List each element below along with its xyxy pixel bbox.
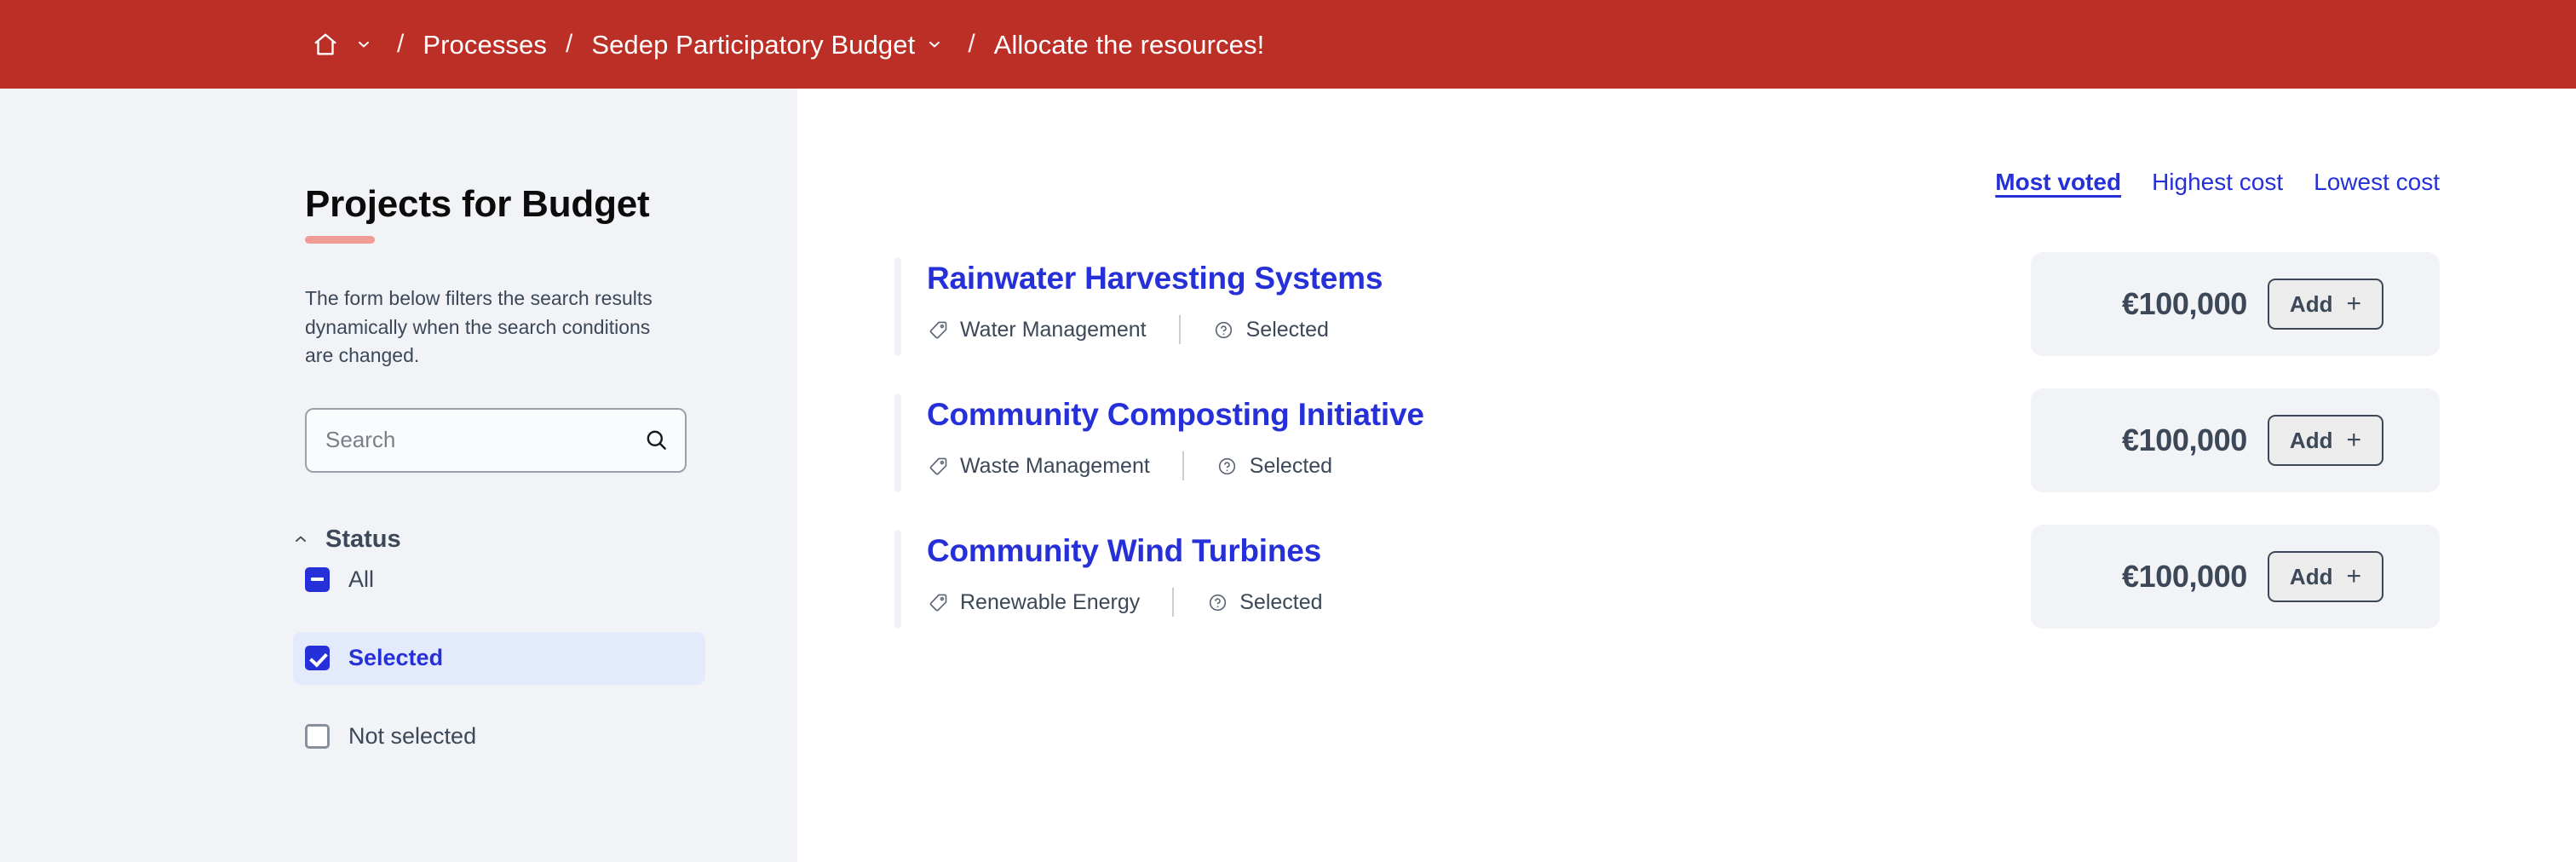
help-circle-icon	[1213, 319, 1235, 341]
project-status: Selected	[1213, 319, 1329, 341]
tag-icon	[927, 319, 949, 341]
project-status-label: Selected	[1250, 456, 1332, 477]
page-title: Projects for Budget	[305, 184, 797, 225]
breadcrumb-separator-2: /	[547, 32, 591, 57]
chevron-up-icon	[290, 528, 312, 550]
project-row: Community Composting Initiative Waste Ma…	[894, 385, 2440, 521]
project-price: €100,000	[2122, 561, 2247, 592]
filter-option-all[interactable]: All	[293, 554, 705, 606]
add-project-button[interactable]: Add +	[2268, 279, 2383, 330]
project-category-label: Waste Management	[960, 456, 1150, 477]
filter-description: The form below filters the search result…	[305, 284, 681, 369]
checkbox-unchecked-icon[interactable]	[305, 724, 330, 749]
meta-divider	[1172, 588, 1174, 617]
search-field	[305, 408, 687, 473]
project-meta: Water Management Selected	[927, 315, 1383, 344]
project-row: Rainwater Harvesting Systems Water Manag…	[894, 249, 2440, 385]
project-row: Community Wind Turbines Renewable Energy	[894, 521, 2440, 658]
project-category-label: Water Management	[960, 319, 1147, 341]
project-price-panel: €100,000 Add +	[2031, 388, 2440, 492]
plus-icon: +	[2346, 291, 2361, 317]
project-accent-bar	[894, 530, 901, 629]
add-button-label: Add	[2290, 429, 2333, 451]
sort-highest-cost[interactable]: Highest cost	[2152, 170, 2283, 194]
breadcrumb-item-processes[interactable]: Processes	[423, 32, 547, 58]
project-price: €100,000	[2122, 289, 2247, 319]
project-category-label: Renewable Energy	[960, 592, 1140, 613]
status-filter-title: Status	[325, 526, 401, 554]
meta-divider	[1179, 315, 1181, 344]
checkbox-checked-icon[interactable]	[305, 646, 330, 670]
filter-option-label: Not selected	[348, 725, 476, 748]
process-chevron-down-icon[interactable]	[920, 27, 949, 61]
sort-options: Most voted Highest cost Lowest cost	[1995, 170, 2440, 194]
project-status: Selected	[1216, 455, 1332, 477]
project-status: Selected	[1206, 591, 1322, 613]
checkbox-indeterminate-icon[interactable]	[305, 567, 330, 592]
search-icon[interactable]	[637, 422, 675, 459]
project-accent-bar	[894, 257, 901, 356]
filter-option-selected[interactable]: Selected	[293, 632, 705, 685]
add-button-label: Add	[2290, 566, 2333, 588]
project-price: €100,000	[2122, 425, 2247, 456]
search-input[interactable]	[305, 408, 687, 473]
projects-main: Most voted Highest cost Lowest cost Rain…	[797, 89, 2576, 862]
project-info: Community Wind Turbines Renewable Energy	[894, 521, 1323, 617]
help-circle-icon	[1216, 455, 1239, 477]
filters-sidebar: Projects for Budget The form below filte…	[0, 89, 797, 862]
filter-option-label: Selected	[348, 646, 443, 669]
filter-option-label: All	[348, 568, 374, 591]
project-status-label: Selected	[1239, 592, 1322, 613]
project-category: Water Management	[927, 319, 1147, 341]
project-accent-bar	[894, 394, 901, 492]
breadcrumb-item-step[interactable]: Allocate the resources!	[994, 32, 1265, 58]
plus-icon: +	[2346, 428, 2361, 453]
title-underline-accent	[305, 236, 375, 244]
plus-icon: +	[2346, 564, 2361, 589]
project-price-panel: €100,000 Add +	[2031, 525, 2440, 629]
project-price-panel: €100,000 Add +	[2031, 252, 2440, 356]
project-meta: Renewable Energy Selected	[927, 588, 1323, 617]
home-icon[interactable]	[307, 26, 344, 63]
project-title-link[interactable]: Community Wind Turbines	[927, 533, 1323, 568]
status-filter-group: Status All Selected Not selected	[305, 526, 705, 763]
add-button-label: Add	[2290, 293, 2333, 315]
project-title-link[interactable]: Community Composting Initiative	[927, 397, 1424, 432]
project-category: Waste Management	[927, 455, 1150, 477]
tag-icon	[927, 455, 949, 477]
help-circle-icon	[1206, 591, 1228, 613]
project-info: Rainwater Harvesting Systems Water Manag…	[894, 249, 1383, 344]
project-status-label: Selected	[1246, 319, 1329, 341]
add-project-button[interactable]: Add +	[2268, 551, 2383, 602]
tag-icon	[927, 591, 949, 613]
add-project-button[interactable]: Add +	[2268, 415, 2383, 466]
home-chevron-down-icon[interactable]	[349, 27, 378, 61]
sort-lowest-cost[interactable]: Lowest cost	[2314, 170, 2440, 194]
project-category: Renewable Energy	[927, 591, 1140, 613]
sort-most-voted[interactable]: Most voted	[1995, 170, 2121, 194]
breadcrumb-separator-3: /	[949, 32, 993, 57]
breadcrumb-separator-1: /	[378, 32, 423, 57]
filter-option-not-selected[interactable]: Not selected	[293, 710, 705, 763]
project-meta: Waste Management Selected	[927, 451, 1424, 480]
status-filter-toggle[interactable]: Status	[290, 526, 705, 554]
projects-list: Rainwater Harvesting Systems Water Manag…	[894, 249, 2440, 658]
project-info: Community Composting Initiative Waste Ma…	[894, 385, 1424, 480]
breadcrumb-item-process[interactable]: Sedep Participatory Budget	[591, 32, 915, 58]
breadcrumb-bar: / Processes / Sedep Participatory Budget…	[0, 0, 2576, 89]
meta-divider	[1182, 451, 1184, 480]
project-title-link[interactable]: Rainwater Harvesting Systems	[927, 261, 1383, 296]
